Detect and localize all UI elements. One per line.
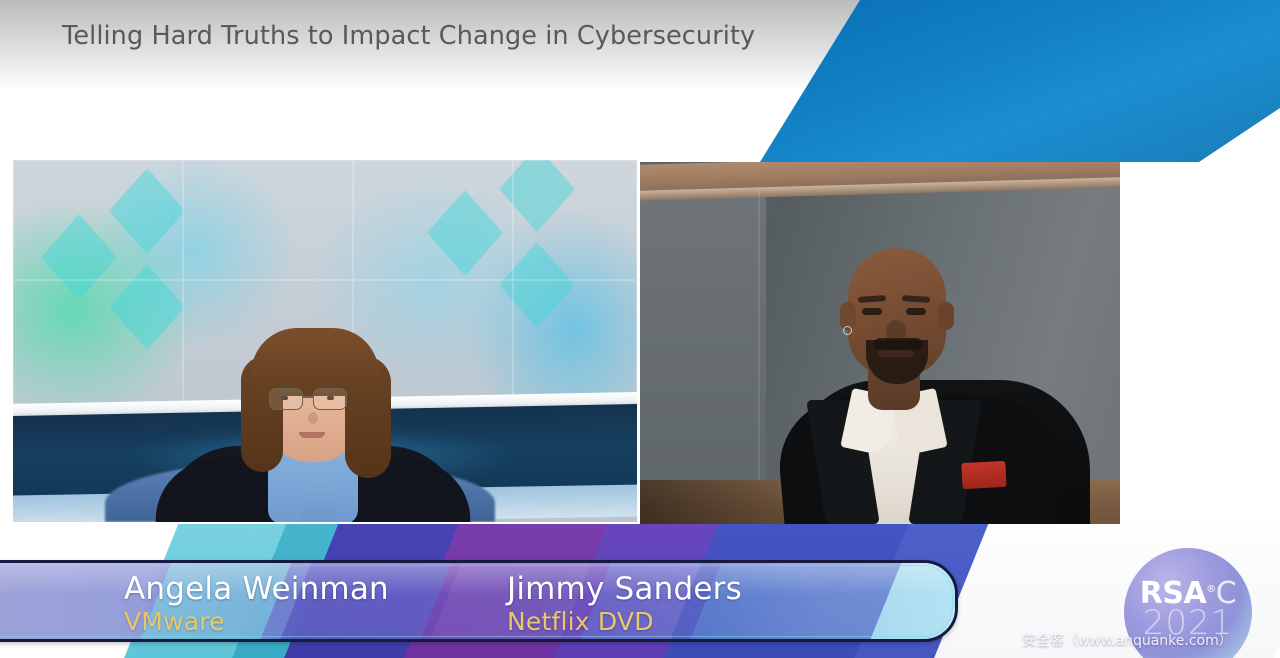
speaker-name: Jimmy Sanders bbox=[507, 571, 742, 607]
speaker-nose bbox=[308, 412, 318, 424]
session-title: Telling Hard Truths to Impact Change in … bbox=[62, 21, 755, 51]
speaker-name: Angela Weinman bbox=[124, 571, 389, 607]
backdrop-tile bbox=[513, 280, 637, 404]
backdrop-tile bbox=[353, 160, 513, 280]
speaker-hair-front bbox=[251, 328, 379, 396]
speaker-pocket-square bbox=[961, 461, 1006, 489]
speaker-organization: VMware bbox=[124, 607, 389, 637]
speaker-name-banner: Angela Weinman VMware Jimmy Sanders Netf… bbox=[0, 560, 958, 642]
speaker-video-angela-weinman[interactable] bbox=[13, 160, 637, 522]
eyeglasses-lens-right bbox=[313, 388, 347, 410]
eyeglasses-lens-left bbox=[269, 388, 303, 410]
speaker-eye-right bbox=[906, 308, 926, 315]
room-wall-left bbox=[640, 190, 766, 490]
backdrop-tile bbox=[183, 160, 353, 280]
backdrop-tile bbox=[13, 280, 183, 404]
room-wall-corner bbox=[758, 190, 760, 490]
speaker-credit: Jimmy Sanders Netflix DVD bbox=[507, 571, 742, 637]
speaker-ear-right bbox=[938, 302, 954, 330]
speaker-mouth bbox=[299, 432, 325, 438]
site-watermark: 安全客（www.anquanke.com） bbox=[1022, 630, 1272, 650]
speaker-scarf-tail bbox=[301, 480, 337, 522]
speaker-credit: Angela Weinman VMware bbox=[124, 571, 389, 637]
registered-mark-icon: ® bbox=[1206, 584, 1216, 595]
presentation-stage: Telling Hard Truths to Impact Change in … bbox=[0, 0, 1280, 658]
speaker-mouth bbox=[878, 350, 914, 357]
eyeglasses-bridge bbox=[303, 396, 314, 398]
hoop-earring-icon bbox=[843, 326, 852, 335]
speaker-eye-left bbox=[862, 308, 882, 315]
speaker-list: Angela Weinman VMware Jimmy Sanders Netf… bbox=[0, 563, 955, 639]
backdrop-tile bbox=[13, 160, 183, 280]
speaker-video-jimmy-sanders[interactable] bbox=[640, 162, 1120, 535]
speaker-moustache bbox=[874, 338, 922, 350]
speaker-organization: Netflix DVD bbox=[507, 607, 742, 637]
backdrop-tile bbox=[513, 160, 637, 280]
